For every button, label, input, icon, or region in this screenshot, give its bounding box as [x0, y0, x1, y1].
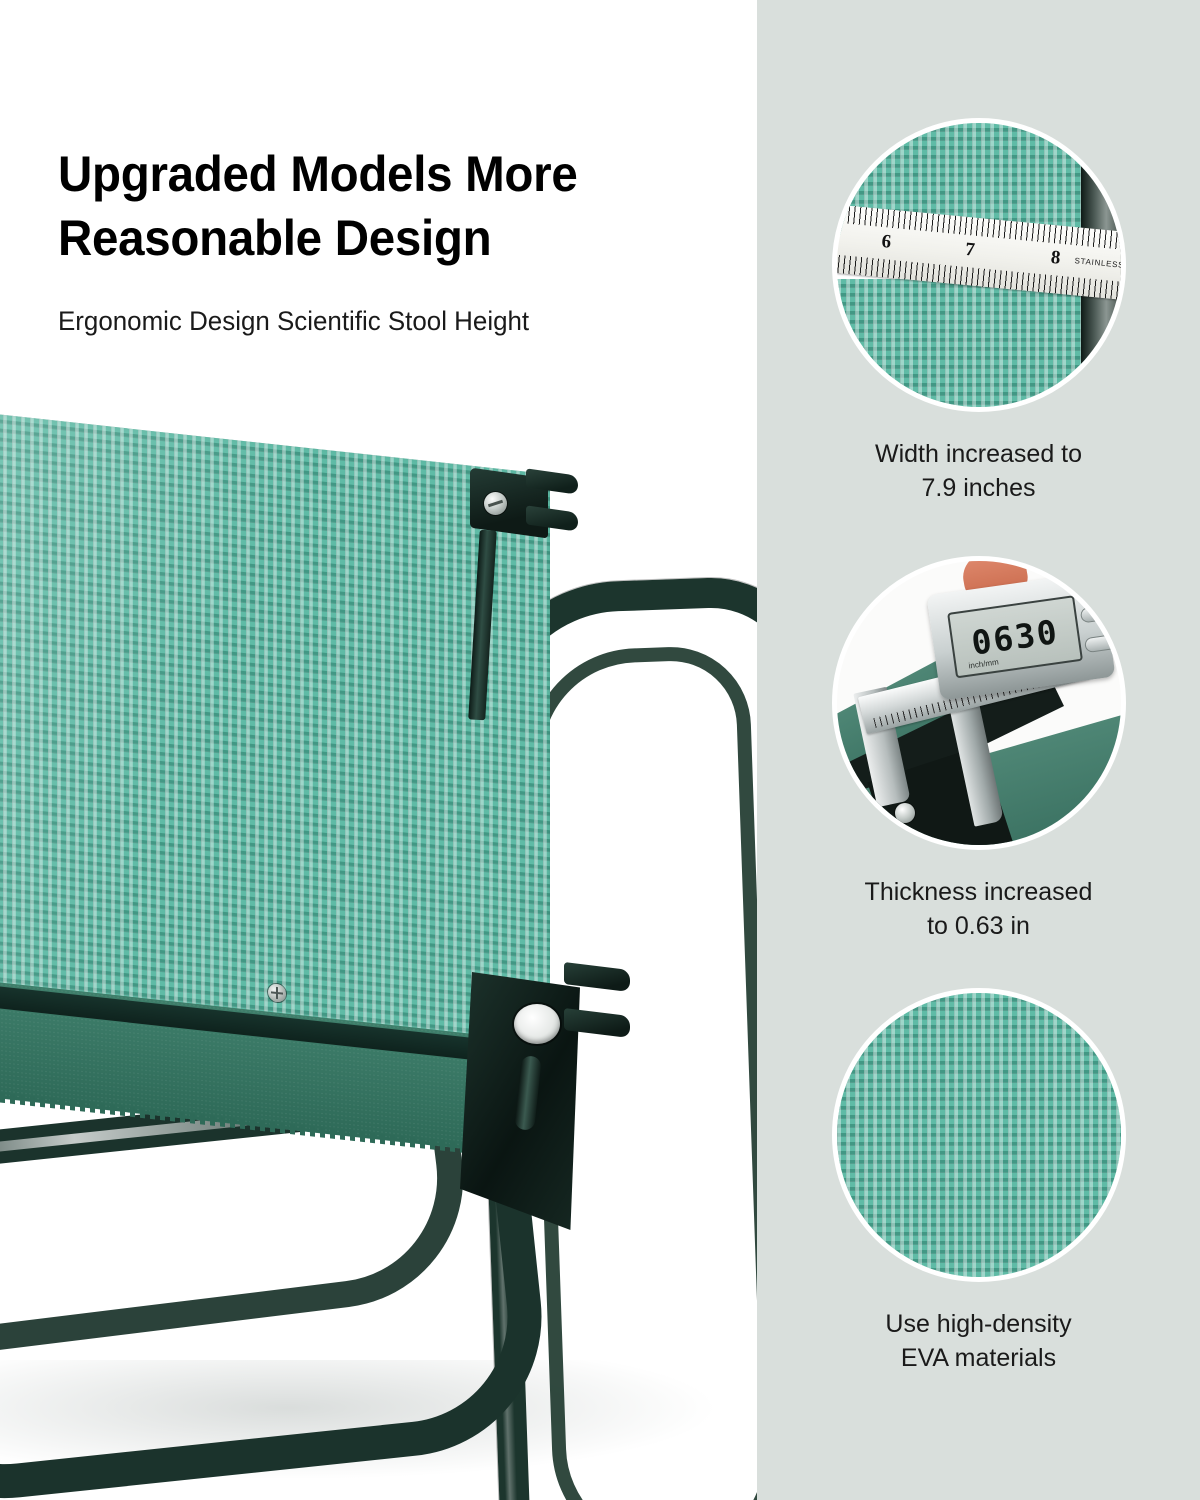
left-panel: Upgraded Models More Reasonable Design E…: [0, 0, 757, 1500]
bracket-pivot-hole: [514, 1004, 560, 1044]
feature-caption: Thickness increased to 0.63 in: [757, 876, 1200, 943]
feature-caption: Width increased to 7.9 inches: [757, 438, 1200, 505]
caliper-lcd-screen: 0630 inch/mm: [947, 595, 1083, 678]
digital-caliper-photo: 0630 inch/mm: [832, 556, 1126, 850]
ruler-mark-7: 7: [964, 239, 976, 262]
feature-caption: Use high-density EVA materials: [757, 1308, 1200, 1375]
ruler-on-foam-photo: 6 7 8 STAINLESS: [832, 118, 1126, 412]
feature-material: Use high-density EVA materials: [757, 988, 1200, 1375]
feature-thickness: 0630 inch/mm Thickness increased to 0.63…: [757, 556, 1200, 943]
bracket-screw: [484, 492, 507, 515]
eva-foam-texture-photo: [832, 988, 1126, 1282]
ruler-brand-label: STAINLESS: [1074, 256, 1124, 270]
page-subtitle: Ergonomic Design Scientific Stool Height: [58, 304, 692, 339]
ruler-mark-6: 6: [880, 231, 892, 254]
product-infographic: Upgraded Models More Reasonable Design E…: [0, 0, 1200, 1500]
ruler-mark-8: 8: [1049, 247, 1061, 270]
steel-bracket-lower: [452, 960, 642, 1250]
page-title: Upgraded Models More Reasonable Design: [58, 142, 685, 270]
garden-kneeler-stool-photo: [0, 380, 757, 1460]
right-panel: 6 7 8 STAINLESS Width increased to 7.9 i…: [757, 0, 1200, 1500]
mounting-screw: [895, 803, 915, 823]
eva-foam-cushion-top: [0, 408, 550, 1054]
foam-surface-lower: [837, 279, 1087, 412]
caliper-reading: 0630: [958, 611, 1070, 665]
foam-weave-texture: [837, 993, 1121, 1277]
feature-width: 6 7 8 STAINLESS Width increased to 7.9 i…: [757, 118, 1200, 505]
